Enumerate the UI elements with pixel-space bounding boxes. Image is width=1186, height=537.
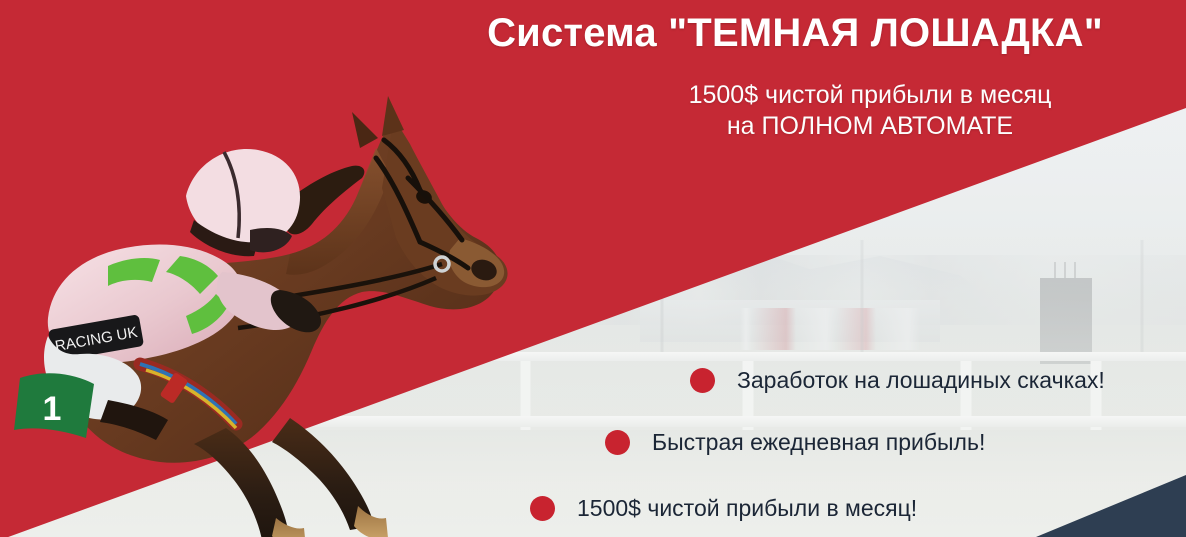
list-item-label: Заработок на лошадиных скачках! [737, 367, 1105, 394]
promo-banner: RACING UK 1 [0, 0, 1186, 537]
bullet-dot-icon [690, 368, 715, 393]
benefit-list: Заработок на лошадиных скачках! Быстрая … [0, 0, 1186, 537]
list-item: Быстрая ежедневная прибыль! [605, 429, 985, 456]
list-item: 1500$ чистой прибыли в месяц! [530, 495, 917, 522]
list-item: Заработок на лошадиных скачках! [690, 367, 1105, 394]
bullet-dot-icon [605, 430, 630, 455]
list-item-label: Быстрая ежедневная прибыль! [652, 429, 985, 456]
list-item-label: 1500$ чистой прибыли в месяц! [577, 495, 917, 522]
bullet-dot-icon [530, 496, 555, 521]
